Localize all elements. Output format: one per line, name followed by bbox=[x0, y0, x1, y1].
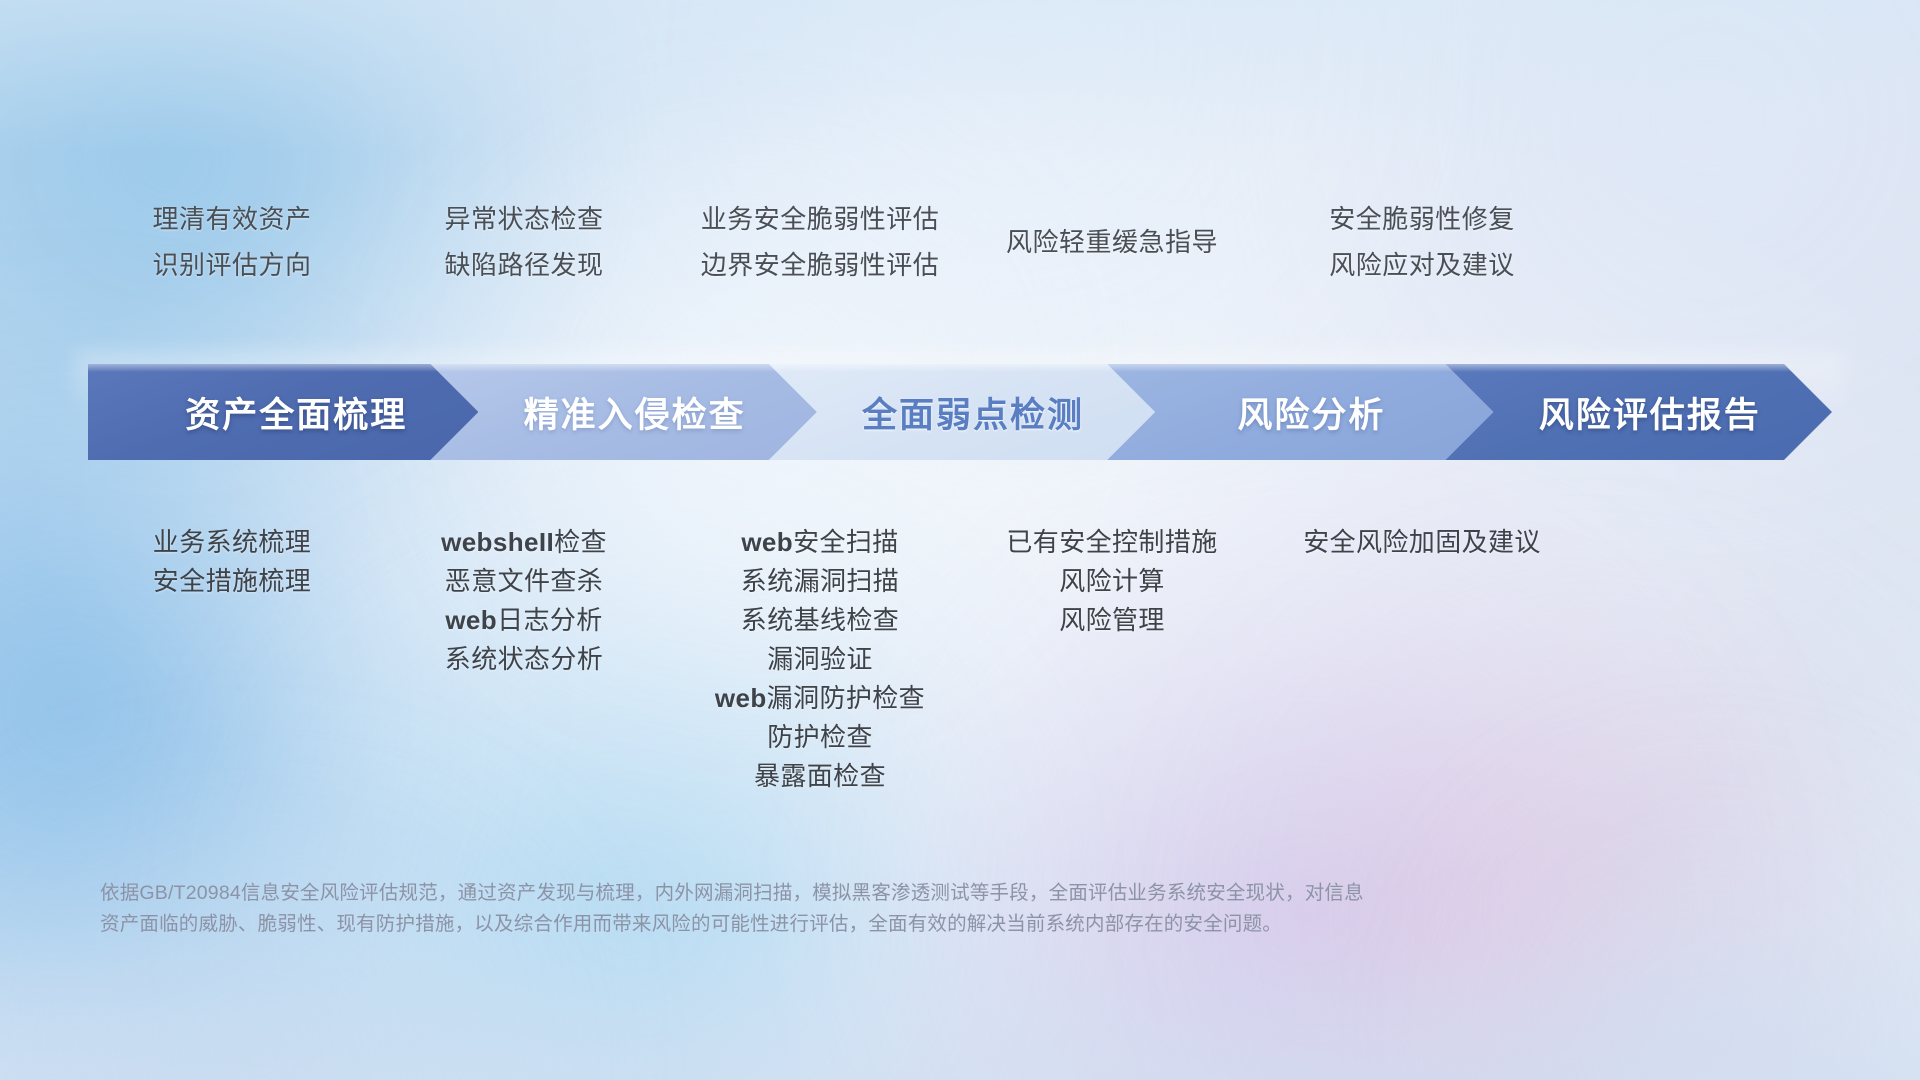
process-chevron-band: 资产全面梳理精准入侵检查全面弱点检测风险分析风险评估报告 bbox=[88, 364, 1832, 460]
stage-3-output-item: 暴露面检查 bbox=[520, 757, 1120, 796]
process-step-4-label: 风险分析 bbox=[1211, 387, 1385, 438]
process-step-2[interactable]: 精准入侵检查 bbox=[426, 364, 816, 460]
footer-description: 依据GB/T20984信息安全风险评估规范，通过资产发现与梳理，内外网漏洞扫描，… bbox=[100, 878, 1660, 940]
process-step-5-label: 风险评估报告 bbox=[1513, 387, 1761, 438]
chevron-sheen bbox=[1442, 364, 1832, 372]
process-step-5[interactable]: 风险评估报告 bbox=[1442, 364, 1832, 460]
chevron-sheen bbox=[1103, 364, 1493, 372]
process-step-1[interactable]: 资产全面梳理 bbox=[88, 364, 478, 460]
chevron-sheen bbox=[426, 364, 816, 372]
footer-line-2: 资产面临的威胁、脆弱性、现有防护措施，以及综合作用而带来风险的可能性进行评估，全… bbox=[100, 909, 1660, 940]
stage-5-input-item: 安全脆弱性修复 bbox=[1122, 196, 1722, 242]
stage-3-output-item: 防护检查 bbox=[520, 718, 1120, 757]
stage-4-output-item: 风险计算 bbox=[812, 562, 1412, 601]
process-diagram: 理清有效资产识别评估方向异常状态检查缺陷路径发现业务安全脆弱性评估边界安全脆弱性… bbox=[0, 0, 1920, 1080]
process-step-1-label: 资产全面梳理 bbox=[159, 387, 407, 438]
stage-5-output-item: 安全风险加固及建议 bbox=[1122, 523, 1722, 562]
stage-3-output-item: 漏洞验证 bbox=[520, 640, 1120, 679]
process-step-3[interactable]: 全面弱点检测 bbox=[765, 364, 1155, 460]
stage-4-output-item: 风险管理 bbox=[812, 601, 1412, 640]
process-step-4[interactable]: 风险分析 bbox=[1103, 364, 1493, 460]
chevron-sheen bbox=[765, 364, 1155, 372]
chevron-sheen bbox=[88, 364, 478, 372]
stage-3-output-item: web漏洞防护检查 bbox=[520, 679, 1120, 718]
process-step-3-label: 全面弱点检测 bbox=[836, 387, 1084, 438]
stage-5-inputs: 安全脆弱性修复风险应对及建议 bbox=[1122, 196, 1722, 288]
process-step-2-label: 精准入侵检查 bbox=[498, 387, 746, 438]
stage-inputs-row: 理清有效资产识别评估方向异常状态检查缺陷路径发现业务安全脆弱性评估边界安全脆弱性… bbox=[0, 0, 1920, 300]
stage-5-outputs: 安全风险加固及建议 bbox=[1122, 523, 1722, 562]
stage-5-input-item: 风险应对及建议 bbox=[1122, 242, 1722, 288]
footer-line-1: 依据GB/T20984信息安全风险评估规范，通过资产发现与梳理，内外网漏洞扫描，… bbox=[100, 878, 1660, 909]
